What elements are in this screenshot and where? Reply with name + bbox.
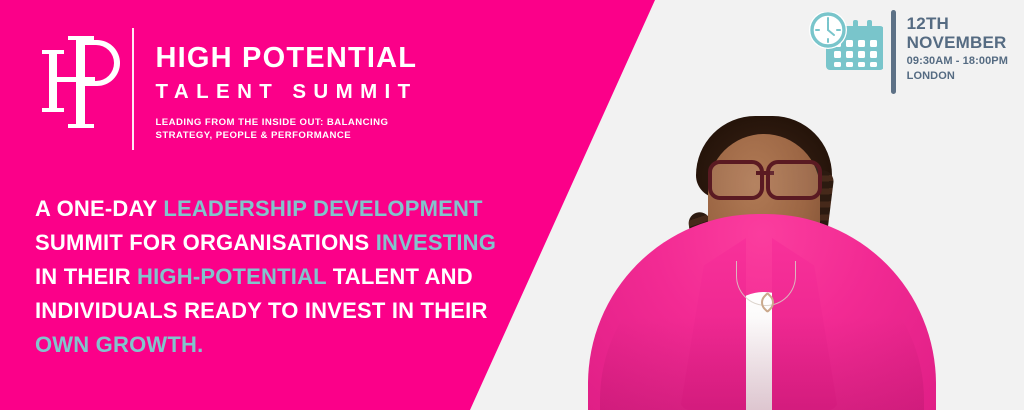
event-city: LONDON [907,69,1008,83]
headline-segment-0: A ONE-DAY [35,196,163,221]
headline-segment-1: LEADERSHIP DEVELOPMENT [163,196,482,221]
headline-segment-3: INVESTING [376,230,496,255]
badge-divider [891,10,896,94]
logo-title: HIGH POTENTIAL [156,44,418,73]
logo-tagline: LEADING FROM THE INSIDE OUT: BALANCING S… [156,116,418,144]
event-time: 09:30AM - 18:00PM [907,54,1008,69]
headline-segment-4: IN THEIR [35,264,137,289]
hp-monogram-icon [34,28,130,140]
date-badge-text: 12TH NOVEMBER 09:30AM - 18:00PM LONDON [907,10,1008,83]
logo-text-block: HIGH POTENTIAL TALENT SUMMIT LEADING FRO… [156,28,418,143]
headline: A ONE-DAY LEADERSHIP DEVELOPMENT SUMMIT … [35,192,505,362]
headline-segment-7: OWN GROWTH. [35,332,203,357]
event-month: NOVEMBER [907,33,1008,52]
logo-subtitle: TALENT SUMMIT [156,82,418,103]
headline-segment-2: SUMMIT FOR ORGANISATIONS [35,230,376,255]
event-day: 12TH [907,14,1008,33]
glasses-icon [706,160,824,194]
date-badge: 12TH NOVEMBER 09:30AM - 18:00PM LONDON [809,10,1008,94]
lens-left [708,160,764,200]
headline-segment-5: HIGH-POTENTIAL [137,264,326,289]
event-banner: HIGH POTENTIAL TALENT SUMMIT LEADING FRO… [0,0,1024,410]
lens-right [766,160,822,200]
brand-lockup: HIGH POTENTIAL TALENT SUMMIT LEADING FRO… [34,28,418,150]
logo-divider [132,28,134,150]
calendar-clock-icon [809,12,883,79]
